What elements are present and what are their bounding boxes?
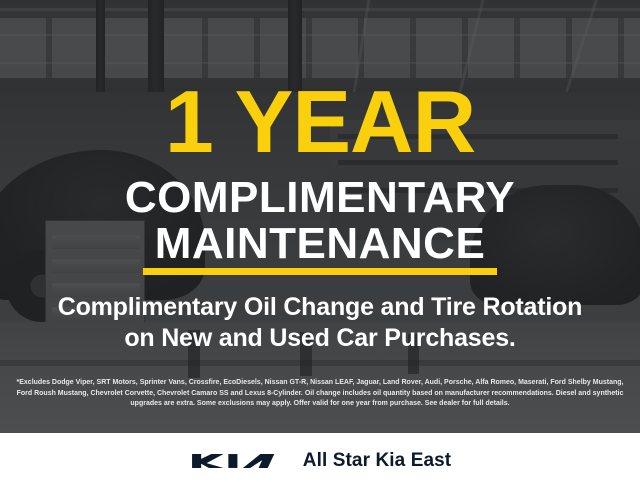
tagline-line-2: on New and Used Car Purchases. <box>0 323 640 354</box>
headline-maintenance: MAINTENANCE <box>0 222 640 266</box>
promotional-banner: 1 YEAR COMPLIMENTARY MAINTENANCE Complim… <box>0 0 640 488</box>
footer-brand-group: All Star Kia East <box>189 448 451 474</box>
tagline-line-1: Complimentary Oil Change and Tire Rotati… <box>0 292 640 323</box>
kia-logo-icon <box>189 448 281 474</box>
headline-complimentary: COMPLIMENTARY <box>0 176 640 220</box>
dealer-name: All Star Kia East <box>303 450 451 472</box>
disclaimer-text: *Excludes Dodge Viper, SRT Motors, Sprin… <box>14 378 626 410</box>
headline-duration: 1 YEAR <box>0 78 640 166</box>
yellow-divider-bar <box>143 268 497 275</box>
footer-bar: All Star Kia East <box>0 433 640 488</box>
banner-content: 1 YEAR COMPLIMENTARY MAINTENANCE Complim… <box>0 0 640 433</box>
tagline: Complimentary Oil Change and Tire Rotati… <box>0 292 640 354</box>
